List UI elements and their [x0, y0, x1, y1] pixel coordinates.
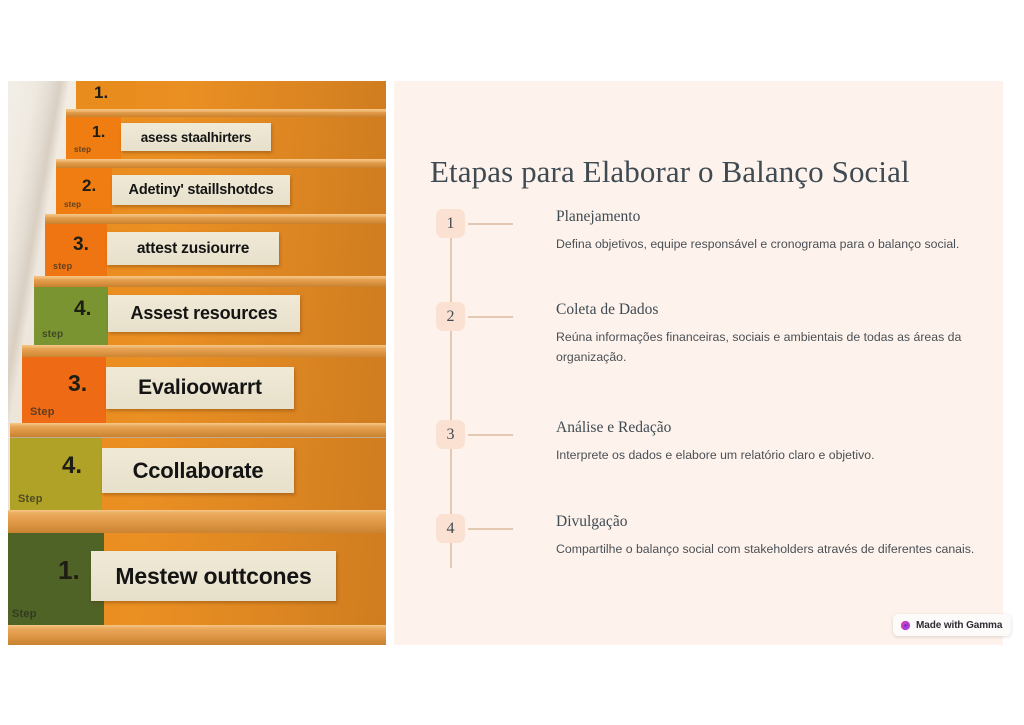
made-with-gamma-label: Made with Gamma [916, 620, 1002, 631]
gamma-logo-icon [900, 620, 911, 631]
stair-plaque-label: Ccollaborate [133, 458, 264, 484]
timeline-step-body: Análise e Redação Interprete os dados e … [556, 418, 990, 466]
stair-tread [56, 159, 386, 168]
stair-tread-edge [34, 276, 386, 279]
stair-step-block: step 3. [45, 224, 107, 276]
stair-row: step 4. Assest resources [8, 287, 386, 357]
stair-plaque-label: Mestew outtcones [115, 563, 311, 590]
timeline-step-description: Reúna informações financeiras, sociais e… [556, 328, 990, 368]
stair-step-block: step 1. [66, 117, 121, 159]
timeline-step-heading: Análise e Redação [556, 418, 990, 437]
stair-tread-edge [10, 423, 386, 426]
timeline-step-body: Coleta de Dados Reúna informações financ… [556, 300, 990, 368]
stair-plaque: attest zusiourre [107, 232, 279, 265]
stair-tread [34, 276, 386, 287]
stair-row: step 2. Adetiny' staillshotdcs [8, 168, 386, 223]
stair-step-word: Step [18, 493, 43, 505]
stair-step-number: 4. [62, 452, 82, 480]
stair-plaque-label: attest zusiourre [137, 240, 249, 258]
stair-step-block: 1. [76, 81, 136, 109]
stair-step-number: 1. [92, 124, 105, 142]
stair-step-word: step [74, 145, 91, 154]
stair-step-number: 3. [73, 234, 89, 256]
made-with-gamma-badge[interactable]: Made with Gamma [893, 614, 1011, 636]
stair-tread-edge [8, 510, 386, 513]
stair-row: Step 1. Mestew outtcones [8, 533, 386, 645]
stair-step-block: step 2. [56, 168, 112, 214]
stair-step-block: Step 1. [8, 533, 104, 625]
stair-tread-edge [56, 159, 386, 162]
stair-plaque: Adetiny' staillshotdcs [112, 175, 290, 205]
stair-step-block: Step 3. [22, 357, 106, 423]
stair-step-number: 3. [68, 370, 87, 397]
stair-step-word: step [42, 329, 63, 340]
stair-tread [8, 510, 386, 534]
timeline-step-body: Divulgação Compartilhe o balanço social … [556, 512, 990, 560]
stair-plaque: Ccollaborate [102, 448, 294, 493]
timeline-step-description: Interprete os dados e elabore um relatór… [556, 446, 990, 466]
staircase-image: 1. step 1. asess staalhirters step [8, 81, 386, 645]
stair-tread [10, 423, 386, 437]
stair-step-word: Step [12, 608, 37, 620]
stair-tread-edge [8, 625, 386, 628]
page-title: Etapas para Elaborar o Balanço Social [430, 155, 990, 189]
stair-tread-edge [66, 109, 386, 112]
stair-step-word: step [64, 200, 81, 209]
stair-step-number: 2. [82, 176, 96, 196]
timeline-step-heading: Divulgação [556, 512, 990, 531]
stair-tread-edge [22, 345, 386, 348]
timeline-step-description: Compartilhe o balanço social com stakeho… [556, 540, 990, 560]
timeline-step-badge: 2 [436, 302, 465, 331]
timeline-step-heading: Coleta de Dados [556, 300, 990, 319]
stair-step-block: step 4. [34, 287, 108, 345]
stair-tread [45, 214, 386, 224]
stair-step-number: 1. [58, 555, 80, 586]
stair-plaque: asess staalhirters [121, 123, 271, 151]
content-panel: Etapas para Elaborar o Balanço Social 1 … [394, 81, 1003, 645]
stair-row: Step 3. Evalioowarrt [8, 357, 386, 438]
stair-plaque-label: Adetiny' staillshotdcs [129, 182, 274, 198]
stair-plaque: Evalioowarrt [106, 367, 294, 409]
stair-row: 1. [8, 81, 386, 115]
stair-plaque-label: asess staalhirters [141, 130, 251, 145]
timeline-connector [468, 316, 513, 318]
stair-tread-edge [45, 214, 386, 217]
stair-plaque-label: Evalioowarrt [138, 376, 262, 400]
stair-row: Step 4. Ccollaborate [8, 438, 386, 533]
stair-step-number: 1. [94, 83, 108, 103]
stair-step-block: Step 4. [10, 438, 102, 510]
timeline-step-heading: Planejamento [556, 207, 990, 226]
stair-row: step 3. attest zusiourre [8, 224, 386, 287]
stair-plaque: Assest resources [108, 295, 300, 332]
timeline-step-body: Planejamento Defina objetivos, equipe re… [556, 207, 990, 255]
timeline-connector [468, 528, 513, 530]
stair-step-number: 4. [74, 297, 92, 321]
stair-tread [66, 109, 386, 117]
timeline-connector [468, 223, 513, 225]
stair-plaque: Mestew outtcones [91, 551, 336, 601]
stair-row: step 1. asess staalhirters [8, 117, 386, 167]
slide-root: 1. step 1. asess staalhirters step [0, 0, 1024, 725]
stair-step-word: step [53, 261, 72, 271]
timeline-step-badge: 4 [436, 514, 465, 543]
timeline-connector [468, 434, 513, 436]
timeline-step-description: Defina objetivos, equipe responsável e c… [556, 235, 990, 255]
stair-plaque-label: Assest resources [131, 303, 278, 324]
timeline-step-badge: 1 [436, 209, 465, 238]
stair-tread [8, 625, 386, 645]
stair-step-word: Step [30, 406, 55, 418]
timeline-step-badge: 3 [436, 420, 465, 449]
